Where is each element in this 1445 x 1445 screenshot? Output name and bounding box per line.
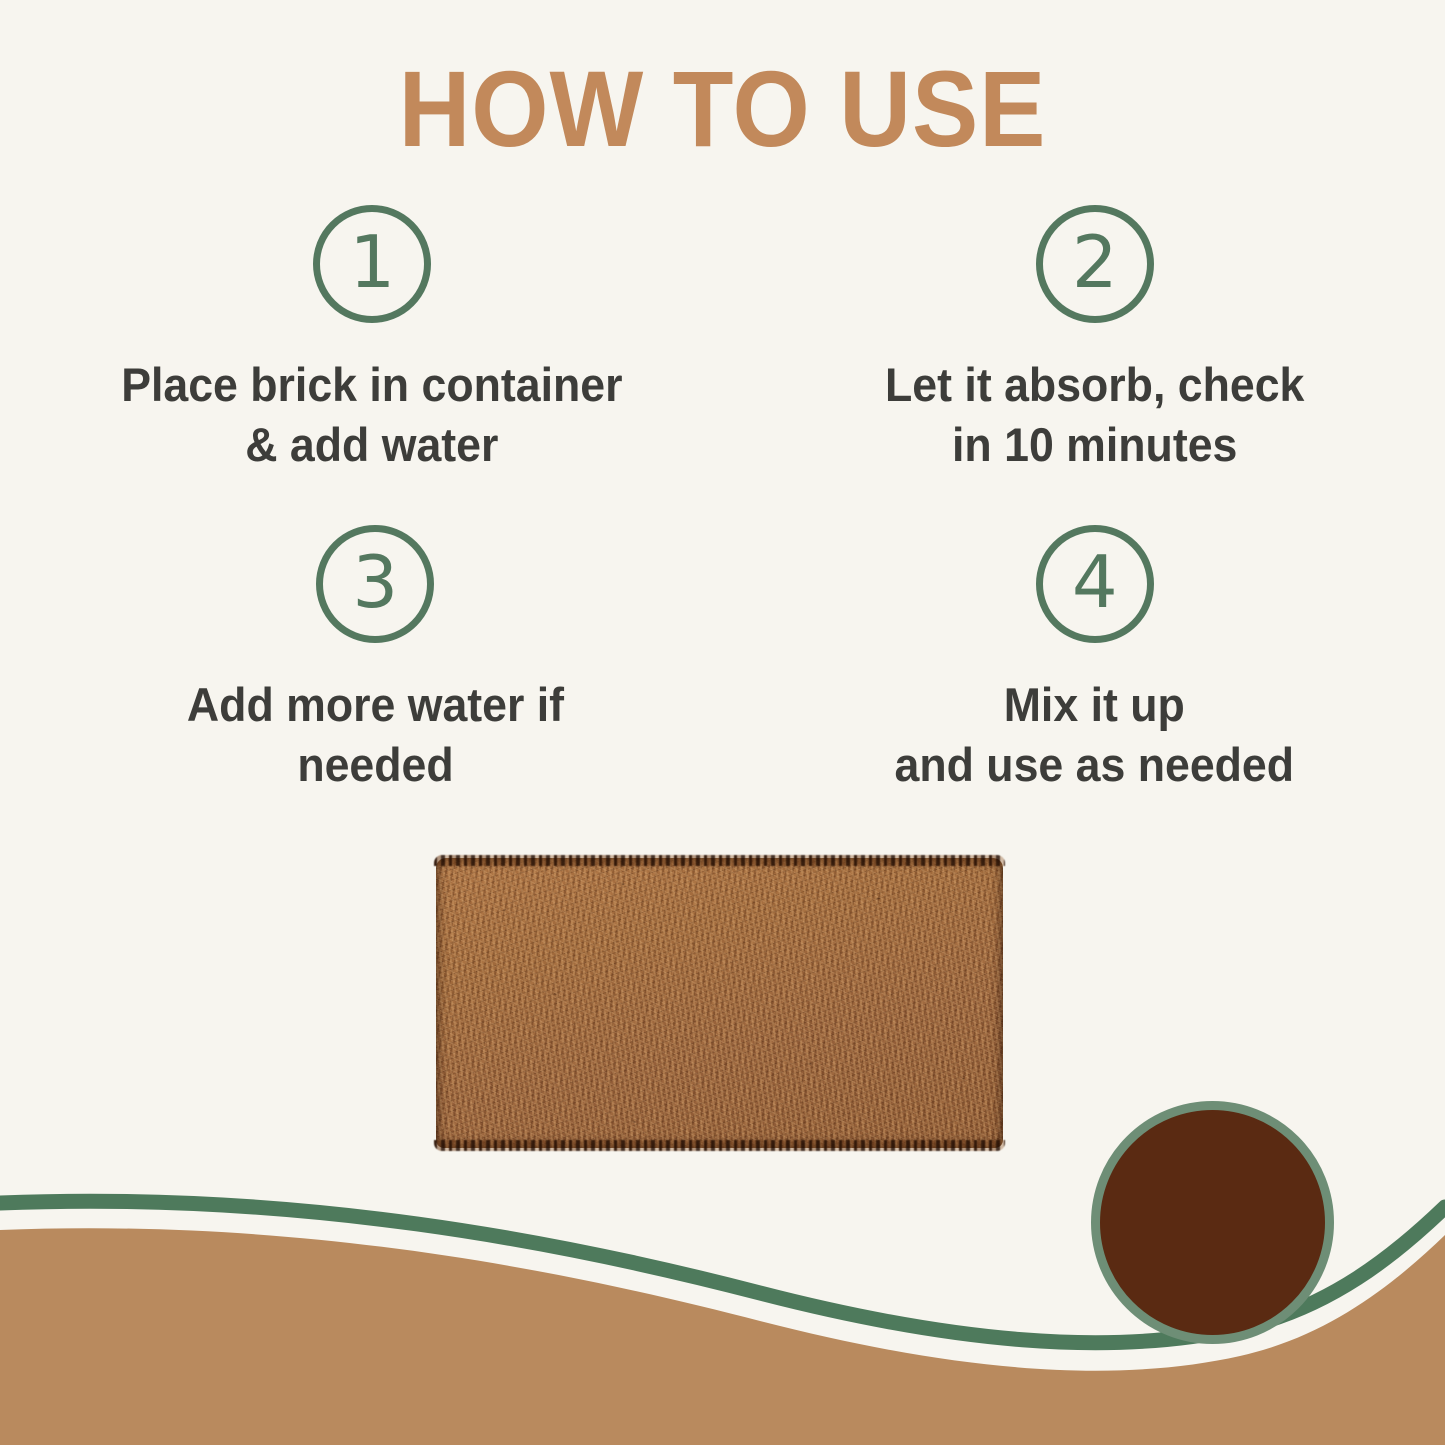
step-number-circle-4: 4	[1036, 525, 1154, 643]
step-4: 4 Mix it up and use as needed	[723, 525, 1445, 845]
step-2: 2 Let it absorb, check in 10 minutes	[723, 205, 1445, 525]
steps-grid: 1 Place brick in container & add water 2…	[0, 205, 1445, 845]
step-number-2: 2	[1072, 226, 1118, 298]
step-label-3: Add more water if needed	[187, 675, 564, 795]
step-number-3: 3	[352, 546, 398, 618]
step-number-circle-3: 3	[316, 525, 434, 643]
how-to-use-infographic: HOW TO USE 1 Place brick in container & …	[0, 0, 1445, 1445]
coir-brick-image	[436, 858, 1003, 1148]
step-label-2: Let it absorb, check in 10 minutes	[885, 355, 1304, 475]
loose-coir-circle-image	[1091, 1101, 1334, 1344]
page-title: HOW TO USE	[58, 52, 1387, 165]
step-1: 1 Place brick in container & add water	[0, 205, 723, 525]
step-number-4: 4	[1072, 546, 1118, 618]
step-label-1: Place brick in container & add water	[122, 355, 623, 475]
step-number-circle-1: 1	[313, 205, 431, 323]
step-number-1: 1	[349, 226, 395, 298]
step-number-circle-2: 2	[1036, 205, 1154, 323]
step-3: 3 Add more water if needed	[0, 525, 723, 845]
step-label-4: Mix it up and use as needed	[895, 675, 1295, 795]
